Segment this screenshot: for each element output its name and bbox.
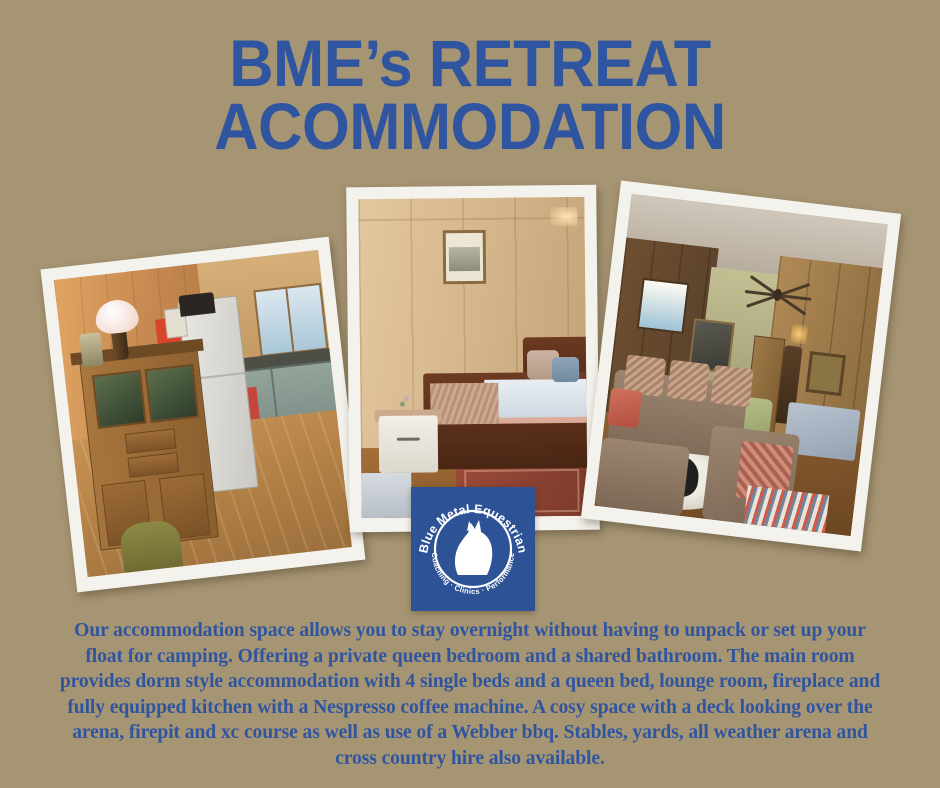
description-paragraph: Our accommodation space allows you to st… [57, 618, 883, 772]
title-line-2: ACOMMODATION [33, 95, 907, 158]
photo-lounge [581, 181, 901, 552]
photo-bedroom [346, 185, 600, 533]
photo-kitchen-image [54, 250, 352, 577]
horse-head-icon [455, 520, 492, 575]
page-title: BME’s RETREAT ACOMMODATION [0, 32, 940, 159]
title-line-1: BME’s RETREAT [33, 32, 907, 95]
photo-lounge-image [594, 194, 887, 536]
poster-canvas: BME’s RETREAT ACOMMODATION [0, 0, 940, 788]
photo-bedroom-image [358, 197, 587, 518]
photo-kitchen [41, 237, 366, 593]
logo-badge: Blue Metal Equestrian Coaching · Clinics… [411, 487, 535, 611]
